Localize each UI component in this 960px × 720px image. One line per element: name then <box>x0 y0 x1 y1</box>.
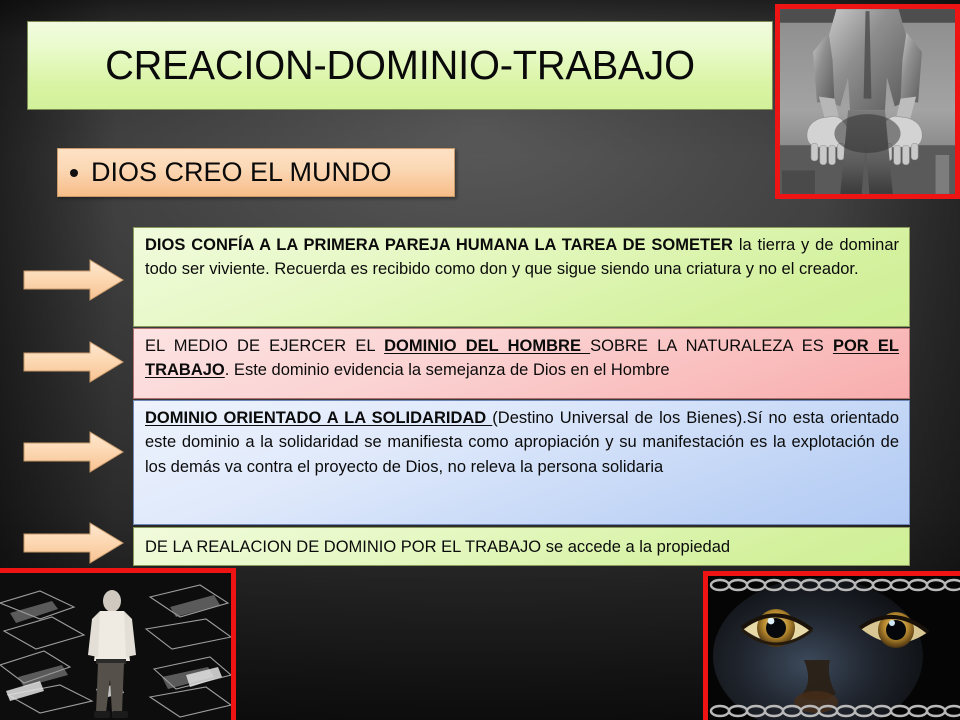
page-title: CREACION-DOMINIO-TRABAJO <box>105 42 695 89</box>
eyes-in-chains-photo <box>703 571 960 720</box>
slide-canvas: CREACION-DOMINIO-TRABAJO DIOS CREO EL MU… <box>0 0 960 720</box>
content-box-3: DOMINIO ORIENTADO A LA SOLIDARIDAD (Dest… <box>133 400 910 525</box>
box2-emph-dominio: DOMINIO DEL HOMBRE <box>384 337 590 355</box>
content-box-2: EL MEDIO DE EJERCER EL DOMINIO DEL HOMBR… <box>133 328 910 399</box>
box2-part3: . Este dominio evidencia la semejanza de… <box>225 361 670 379</box>
slide-title-box: CREACION-DOMINIO-TRABAJO <box>27 21 773 110</box>
arrow-to-box1 <box>22 258 125 302</box>
man-in-rubble-photo <box>0 568 236 720</box>
content-box-4: DE LA REALACION DE DOMINIO POR EL TRABAJ… <box>133 527 910 566</box>
box1-bold-lead: DIOS CONFÍA A LA PRIMERA PAREJA HUMANA L… <box>145 236 733 254</box>
bullet-label: DIOS CREO EL MUNDO <box>91 157 392 188</box>
box2-part1: EL MEDIO DE EJERCER EL <box>145 337 384 355</box>
bullet-dot-icon <box>70 169 78 177</box>
arrow-to-box2 <box>22 340 125 384</box>
box2-part2: SOBRE LA NATURALEZA ES <box>590 337 833 355</box>
content-box-1: DIOS CONFÍA A LA PRIMERA PAREJA HUMANA L… <box>133 227 910 327</box>
box4-caps: DE LA REALACION DE DOMINIO POR EL TRABAJ… <box>145 538 546 556</box>
bullet-callout-box: DIOS CREO EL MUNDO <box>57 148 455 197</box>
box4-rest: se accede a la propiedad <box>546 538 730 556</box>
arrow-to-box3 <box>22 430 125 474</box>
worker-open-hands-photo <box>775 4 960 199</box>
box3-emph-heading: DOMINIO ORIENTADO A LA SOLIDARIDAD <box>145 409 492 427</box>
arrow-to-box4 <box>22 521 125 565</box>
